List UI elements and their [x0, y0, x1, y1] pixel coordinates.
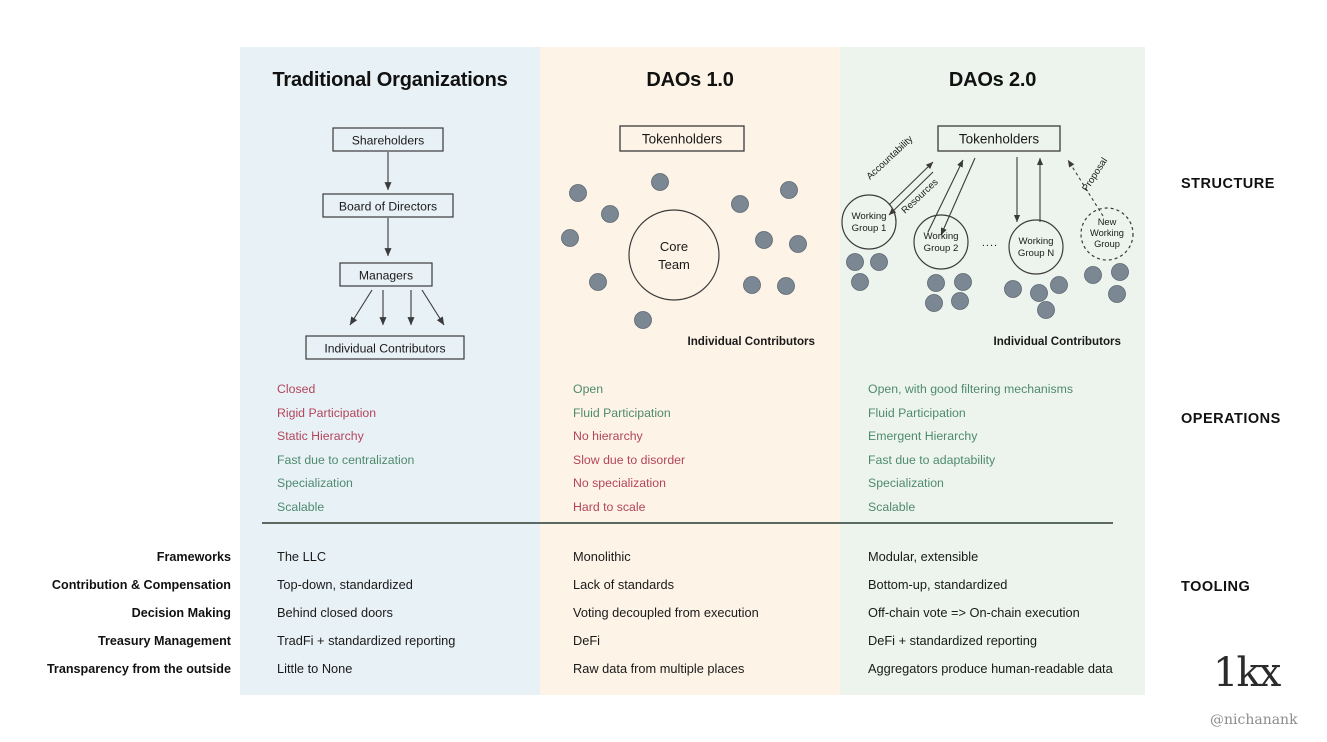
tooling-cell: Lack of standards: [573, 571, 759, 599]
operations-item: No specialization: [573, 472, 685, 496]
operations-item: No hierarchy: [573, 425, 685, 449]
tooling-column-daos1: Monolithic Lack of standards Voting deco…: [573, 543, 759, 683]
operations-item: Hard to scale: [573, 496, 685, 520]
section-label-structure: STRUCTURE: [1181, 176, 1275, 192]
section-label-operations: OPERATIONS: [1181, 411, 1281, 427]
operations-item: Specialization: [277, 472, 414, 496]
operations-item: Fluid Participation: [573, 402, 685, 426]
operations-item: Scalable: [868, 496, 1073, 520]
operations-item: Emergent Hierarchy: [868, 425, 1073, 449]
tooling-row-labels: Frameworks Contribution & Compensation D…: [0, 543, 231, 683]
tooling-cell: Little to None: [277, 655, 455, 683]
column-title-traditional: Traditional Organizations: [240, 69, 540, 92]
tooling-row-label: Frameworks: [0, 543, 231, 571]
tooling-cell: DeFi + standardized reporting: [868, 627, 1113, 655]
operations-list-traditional: Closed Rigid Participation Static Hierar…: [277, 378, 414, 520]
section-divider: [262, 522, 1113, 524]
operations-item: Fast due to centralization: [277, 449, 414, 473]
tooling-cell: The LLC: [277, 543, 455, 571]
tooling-cell: Behind closed doors: [277, 599, 455, 627]
operations-list-daos1: Open Fluid Participation No hierarchy Sl…: [573, 378, 685, 520]
tooling-cell: Voting decoupled from execution: [573, 599, 759, 627]
operations-item: Specialization: [868, 472, 1073, 496]
tooling-cell: Modular, extensible: [868, 543, 1113, 571]
column-title-daos2: DAOs 2.0: [840, 69, 1145, 92]
operations-item: Rigid Participation: [277, 402, 414, 426]
operations-item: Static Hierarchy: [277, 425, 414, 449]
tooling-row-label: Treasury Management: [0, 627, 231, 655]
tooling-row-label: Decision Making: [0, 599, 231, 627]
tooling-cell: Off-chain vote => On-chain execution: [868, 599, 1113, 627]
operations-item: Scalable: [277, 496, 414, 520]
operations-item: Fluid Participation: [868, 402, 1073, 426]
tooling-cell: Top-down, standardized: [277, 571, 455, 599]
tooling-cell: DeFi: [573, 627, 759, 655]
section-label-tooling: TOOLING: [1181, 579, 1250, 595]
tooling-cell: Aggregators produce human-readable data: [868, 655, 1113, 683]
tooling-cell: Monolithic: [573, 543, 759, 571]
tooling-cell: Raw data from multiple places: [573, 655, 759, 683]
tooling-cell: Bottom-up, standardized: [868, 571, 1113, 599]
operations-item: Closed: [277, 378, 414, 402]
logo-1kx: 1kx: [1213, 650, 1279, 696]
tooling-column-traditional: The LLC Top-down, standardized Behind cl…: [277, 543, 455, 683]
operations-list-daos2: Open, with good filtering mechanisms Flu…: [868, 378, 1073, 520]
operations-item: Open, with good filtering mechanisms: [868, 378, 1073, 402]
operations-item: Open: [573, 378, 685, 402]
operations-item: Fast due to adaptability: [868, 449, 1073, 473]
author-handle: @nichanank: [1210, 712, 1298, 728]
operations-item: Slow due to disorder: [573, 449, 685, 473]
column-title-daos1: DAOs 1.0: [540, 69, 840, 92]
tooling-row-label: Contribution & Compensation: [0, 571, 231, 599]
tooling-column-daos2: Modular, extensible Bottom-up, standardi…: [868, 543, 1113, 683]
tooling-cell: TradFi + standardized reporting: [277, 627, 455, 655]
tooling-row-label: Transparency from the outside: [0, 655, 231, 683]
